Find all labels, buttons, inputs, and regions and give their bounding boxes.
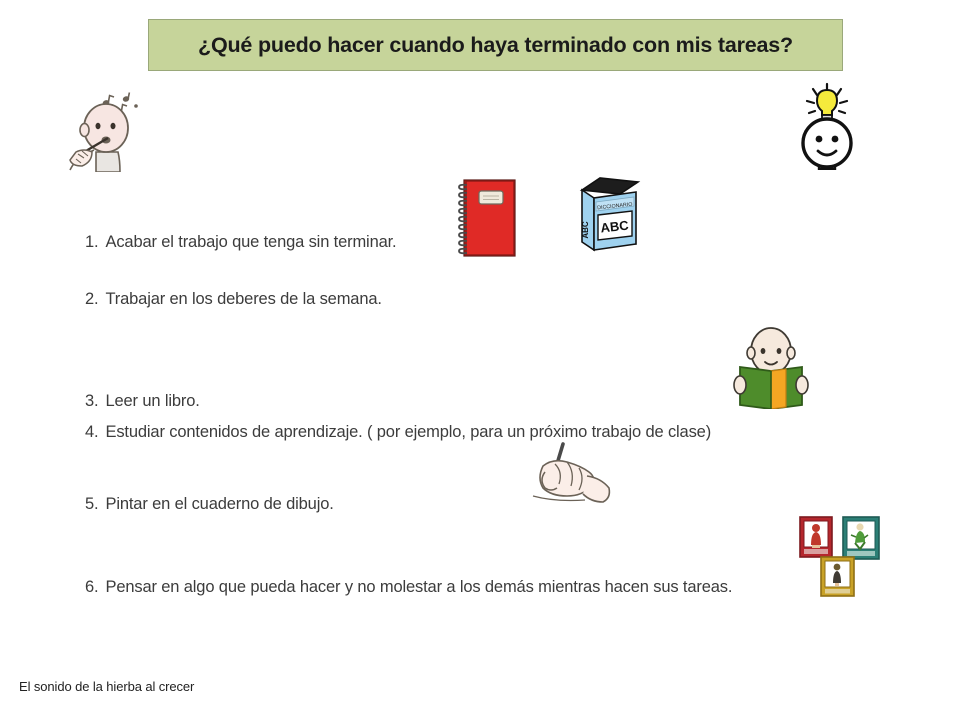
- whistling-person-icon: [62, 86, 146, 172]
- teal-story-book: [843, 517, 879, 559]
- list-item-text: Pensar en algo que pueda hacer y no mole…: [105, 578, 732, 596]
- list-item-number: 1.: [85, 233, 98, 251]
- list-item-number: 4.: [85, 423, 98, 441]
- title-banner: ¿Qué puedo hacer cuando haya terminado c…: [148, 19, 843, 71]
- red-story-book: [800, 517, 832, 557]
- lightbulb-idea-icon: [788, 82, 866, 170]
- dictionary-book-pictogram: DICCIONARIO ABC ABC: [570, 172, 642, 254]
- list-item: 3.Leer un libro.: [85, 392, 200, 411]
- page-title: ¿Qué puedo hacer cuando haya terminado c…: [198, 33, 793, 58]
- list-item-text: Pintar en el cuaderno de dibujo.: [105, 495, 333, 513]
- list-item-number: 5.: [85, 495, 98, 513]
- list-item: 2.Trabajar en los deberes de la semana.: [85, 290, 382, 309]
- list-item-text: Trabajar en los deberes de la semana.: [105, 290, 381, 308]
- story-books-icon: [798, 515, 882, 597]
- list-item-number: 3.: [85, 392, 98, 410]
- list-item: 4.Estudiar contenidos de aprendizaje. ( …: [85, 423, 711, 442]
- list-item: 5.Pintar en el cuaderno de dibujo.: [85, 495, 334, 514]
- yellow-story-book: [821, 557, 854, 596]
- list-item: 1.Acabar el trabajo que tenga sin termin…: [85, 233, 397, 252]
- list-item-number: 2.: [85, 290, 98, 308]
- idea-smiley-pictogram: [788, 82, 866, 170]
- red-notebook-pictogram: [455, 178, 517, 258]
- reading-child-pictogram: [730, 325, 812, 409]
- reading-child-icon: [730, 325, 812, 409]
- list-item-text: Leer un libro.: [105, 392, 199, 410]
- dictionary-spine-title: ABC: [581, 221, 590, 239]
- list-item-text: Estudiar contenidos de aprendizaje. ( po…: [105, 423, 711, 441]
- notebook-icon: [455, 178, 517, 258]
- whistling-person-pictogram: [62, 86, 146, 172]
- list-item-text: Acabar el trabajo que tenga sin terminar…: [105, 233, 396, 251]
- list-item-number: 6.: [85, 578, 98, 596]
- list-item: 6.Pensar en algo que pueda hacer y no mo…: [85, 578, 732, 597]
- story-books-pictogram: [798, 515, 882, 597]
- footer-text: El sonido de la hierba al crecer: [19, 679, 194, 694]
- writing-hand-icon: [525, 442, 613, 506]
- dictionary-front-title: ABC: [600, 218, 630, 236]
- dictionary-icon: DICCIONARIO ABC ABC: [570, 172, 642, 254]
- writing-hand-pictogram: [525, 442, 613, 506]
